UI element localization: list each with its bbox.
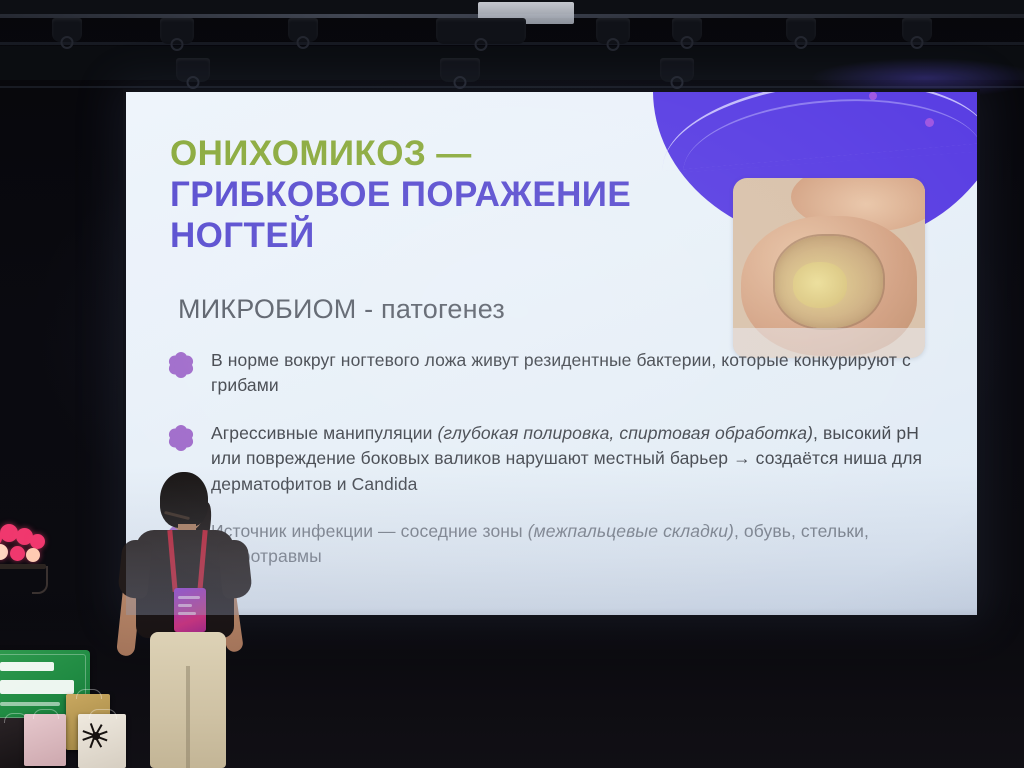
flower-bullet-icon xyxy=(168,352,194,378)
flower-bloom xyxy=(10,546,25,561)
flower-bullet-icon xyxy=(168,425,194,451)
stage-lamp-8 xyxy=(902,18,932,42)
bullet-text-before: Источник инфекции — соседние зоны xyxy=(211,521,528,541)
slide-title-line-3: НОГТЕЙ xyxy=(170,216,770,257)
stage-lamp-4 xyxy=(436,18,526,44)
bullet-text-before: Агрессивные манипуляции xyxy=(211,423,438,443)
slide-bullet-list: В норме вокруг ногтевого ложа живут рези… xyxy=(166,348,926,592)
presenter-hair xyxy=(160,472,208,528)
stage-lamp-5 xyxy=(596,18,630,44)
stage-lamp-9 xyxy=(176,58,210,82)
pink-flowers-display xyxy=(0,520,56,578)
flower-bloom-light xyxy=(0,544,8,560)
flower-bloom-light xyxy=(26,548,40,562)
bullet-text-italic: (глубокая полировка, спиртовая обработка… xyxy=(438,423,814,443)
conference-badge xyxy=(174,588,206,632)
slide-title-line-1: ОНИХОМИКОЗ — xyxy=(170,134,770,175)
certificate-text-main xyxy=(0,680,74,694)
list-item: Агрессивные манипуляции (глубокая полиро… xyxy=(166,421,926,497)
slide-subtitle: МИКРОБИОМ - патогенез xyxy=(178,294,505,325)
foreground-prize-table xyxy=(0,636,132,768)
gift-bag xyxy=(24,714,66,766)
bullet-text-italic: (межпальцевые складки) xyxy=(528,521,734,541)
flower-bloom xyxy=(0,524,18,542)
certificate-text-top xyxy=(0,662,54,671)
stage-lamp-2 xyxy=(160,18,194,44)
bullet-text: В норме вокруг ногтевого ложа живут рези… xyxy=(211,348,926,399)
spider-decoration-icon xyxy=(88,728,104,744)
speaker-on-stage xyxy=(112,468,258,768)
slide-title: ОНИХОМИКОЗ — ГРИБКОВОЕ ПОРАЖЕНИЕ НОГТЕЙ xyxy=(170,134,770,257)
slide-title-line-2: ГРИБКОВОЕ ПОРАЖЕНИЕ xyxy=(170,175,770,216)
bullet-text: Источник инфекции — соседние зоны (межпа… xyxy=(211,519,926,570)
list-item: Источник инфекции — соседние зоны (межпа… xyxy=(166,519,926,570)
stand-hook xyxy=(32,566,48,594)
flower-bloom xyxy=(30,534,45,549)
stage-lamp-3 xyxy=(288,18,318,42)
stage-lamp-11 xyxy=(660,58,694,82)
stage-lamp-6 xyxy=(672,18,702,42)
presenter-pants xyxy=(150,632,226,768)
certificate-text-sub xyxy=(0,702,60,706)
bullet-text: Агрессивные манипуляции (глубокая полиро… xyxy=(211,421,926,497)
stage-lamp-10 xyxy=(440,58,480,82)
stage-scene: ОНИХОМИКОЗ — ГРИБКОВОЕ ПОРАЖЕНИЕ НОГТЕЙ … xyxy=(0,0,1024,768)
list-item: В норме вокруг ногтевого ложа живут рези… xyxy=(166,348,926,399)
stage-lamp-7 xyxy=(786,18,816,42)
stage-lamp-1 xyxy=(52,18,82,42)
